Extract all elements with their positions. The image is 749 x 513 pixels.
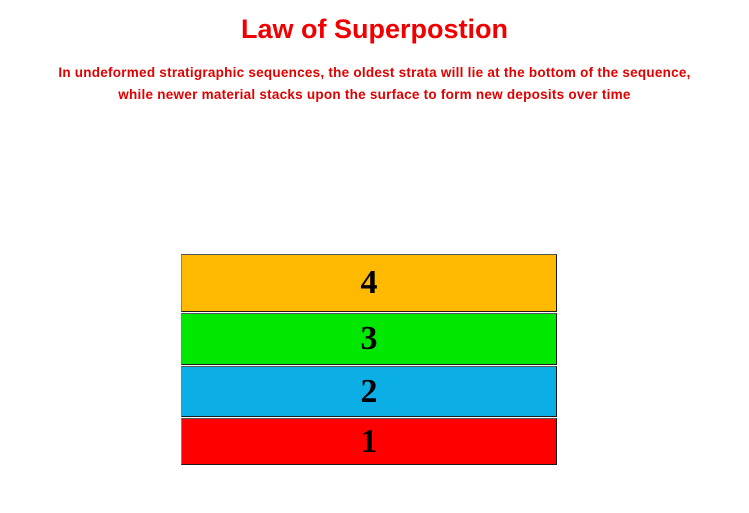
stratigraphic-layer-stack: 4 3 2 1 <box>181 254 557 465</box>
subtitle-text: In undeformed stratigraphic sequences, t… <box>0 62 749 106</box>
subtitle-line-1: In undeformed stratigraphic sequences, t… <box>0 62 749 84</box>
strata-layer-1[interactable]: 1 <box>181 418 557 465</box>
strata-layer-3-label: 3 <box>361 322 378 356</box>
slide-canvas: Law of Superpostion In undeformed strati… <box>0 0 749 513</box>
strata-layer-1-label: 1 <box>361 425 378 459</box>
strata-layer-2-label: 2 <box>361 375 378 409</box>
strata-layer-3[interactable]: 3 <box>181 313 557 365</box>
strata-layer-4-label: 4 <box>361 266 378 300</box>
strata-layer-4[interactable]: 4 <box>181 254 557 312</box>
strata-layer-2[interactable]: 2 <box>181 366 557 417</box>
subtitle-line-2: while newer material stacks upon the sur… <box>0 84 749 106</box>
page-title: Law of Superpostion <box>0 13 749 45</box>
